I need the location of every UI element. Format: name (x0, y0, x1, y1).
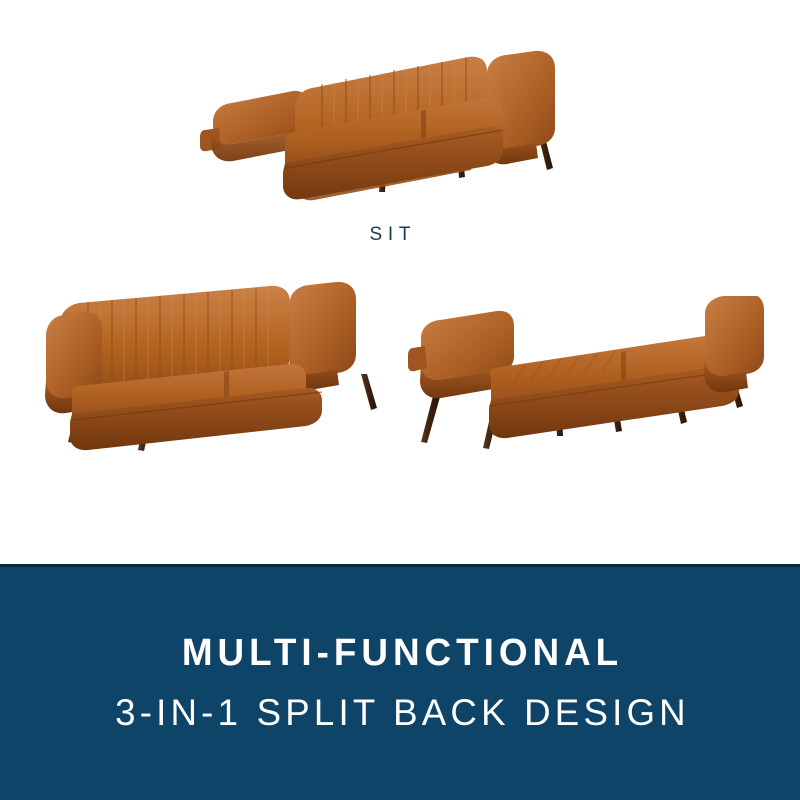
sofa-sit-icon (175, 18, 605, 213)
sofa-back-left-edge (408, 346, 427, 371)
sofa-sit-figure (175, 18, 605, 213)
configuration-sit: SIT (175, 18, 605, 213)
banner-subheadline: 3-IN-1 SPLIT BACK DESIGN (111, 694, 690, 731)
sofa-lounge-figure (38, 282, 398, 454)
configuration-showcase: SIT (0, 0, 800, 564)
promo-banner: MULTI-FUNCTIONAL 3-IN-1 SPLIT BACK DESIG… (0, 564, 800, 800)
configuration-lounge: LOUNGE (38, 282, 398, 454)
sofa-lounge-icon (38, 282, 398, 454)
sofa-sleep-icon (405, 296, 770, 454)
sofa-back-right-flat (705, 296, 764, 378)
sofa-arm-right (290, 282, 356, 377)
banner-headline: MULTI-FUNCTIONAL (177, 634, 623, 672)
banner-content: MULTI-FUNCTIONAL 3-IN-1 SPLIT BACK DESIG… (0, 564, 800, 800)
configuration-label-sit: SIT (175, 224, 605, 246)
product-feature-graphic: SIT (0, 0, 800, 800)
sofa-sleep-figure (405, 296, 770, 454)
configuration-sleep: SLEEP (405, 296, 770, 454)
